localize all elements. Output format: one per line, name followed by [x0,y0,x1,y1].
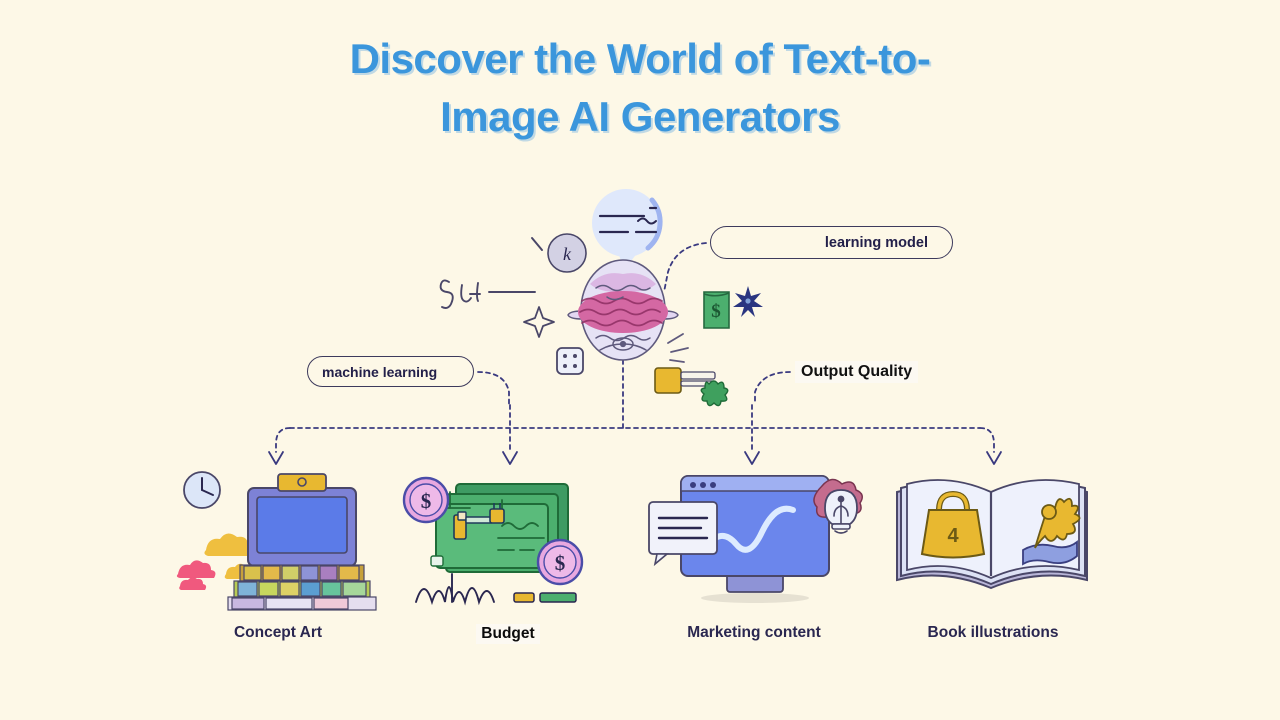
cloud-pink-icon [177,560,216,590]
dollar-coin-icon: $ [404,478,448,522]
label-machine-learning-text: machine learning [322,364,437,380]
svg-text:$: $ [421,489,432,513]
page-title-line-1: Discover the World of Text-to- [0,30,1280,88]
dollar-bill-icon: $ [704,292,729,328]
infographic-canvas: Discover the World of Text-to- Image AI … [0,0,1280,720]
laptop-screen [248,474,356,566]
category-budget-label: Budget [476,624,539,644]
svg-text:$: $ [555,551,566,575]
label-output-quality: Output Quality [795,361,918,383]
handwriting-scribble-icon [441,280,535,308]
category-marketing-content[interactable]: Marketing content [639,462,869,642]
svg-text:$: $ [711,301,721,322]
category-book-illustrations-label: Book illustrations [878,624,1108,642]
label-learning-model-text: learning model [825,235,928,251]
label-learning-model[interactable]: learning model [710,226,953,259]
dice-four-dots-icon [557,348,583,374]
svg-text:k: k [563,244,572,264]
speech-card-icon [649,502,717,564]
category-marketing-content-label: Marketing content [639,624,869,642]
category-concept-art-label: Concept Art [163,624,393,642]
open-book-icon: 4 [878,462,1108,612]
connector-lines [276,243,994,452]
waveform-icon [416,587,494,602]
puzzle-piece-icon [655,368,728,406]
starburst-icon [733,286,763,317]
tick-mark-icon [532,238,542,250]
category-budget[interactable]: $ $ Budget [393,462,623,644]
clock-icon [184,472,220,508]
book-page-number: 4 [947,525,959,547]
page-title-line-2: Image AI Generators [0,88,1280,146]
money-stack-icon: $ $ [393,462,623,612]
ai-brain-head-icon [568,260,688,362]
k-badge-icon: k [548,234,586,272]
page-title: Discover the World of Text-to- Image AI … [0,30,1280,146]
label-machine-learning[interactable]: machine learning [307,356,474,387]
sparkle-star-icon [524,307,554,337]
category-concept-art[interactable]: Concept Art [163,462,393,642]
laptop-colorful-keyboard-icon [163,462,393,612]
browser-window-chart-icon [639,462,869,612]
speech-bubble-text-icon [592,189,660,270]
dollar-coin-icon: $ [538,540,582,584]
laptop-keyboard [228,565,376,610]
category-book-illustrations[interactable]: 4 Book illustrations [878,462,1108,642]
